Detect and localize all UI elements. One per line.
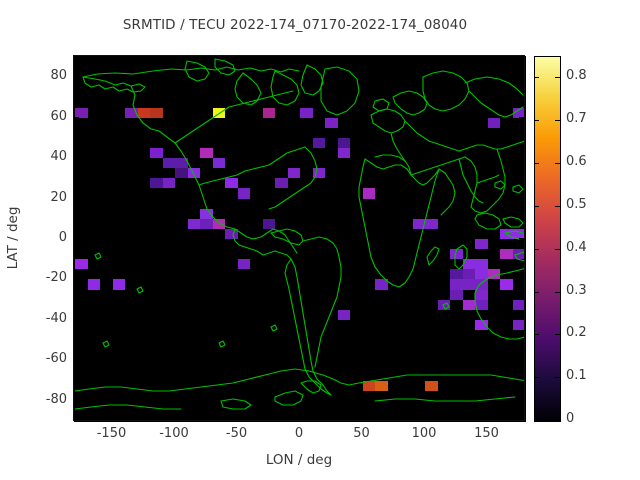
x-tick-label: 100 (394, 426, 454, 441)
colorbar-tick-mark (534, 120, 539, 121)
y-tick-mark-right (519, 117, 524, 118)
colorbar-tick-mark-right (555, 334, 560, 335)
colorbar-tick-mark (534, 334, 539, 335)
x-tick-mark (424, 415, 425, 420)
map-plot-area[interactable] (74, 56, 526, 422)
x-tick-mark-top (424, 56, 425, 61)
x-tick-mark (174, 415, 175, 420)
colorbar-tick-mark (534, 249, 539, 250)
x-tick-label: -50 (207, 426, 267, 441)
x-tick-label: -100 (144, 426, 204, 441)
page-title: SRMTID / TECU 2022-174_07170-2022-174_08… (0, 17, 590, 33)
y-tick-mark (74, 238, 79, 239)
y-tick-mark (74, 76, 79, 77)
x-tick-mark (112, 415, 113, 420)
y-tick-mark-right (519, 238, 524, 239)
y-tick-label: -40 (12, 311, 67, 326)
y-tick-label: -80 (12, 392, 67, 407)
y-tick-mark-right (519, 198, 524, 199)
x-tick-mark-top (362, 56, 363, 61)
colorbar-tick-mark (534, 206, 539, 207)
colorbar-tick-mark-right (555, 420, 560, 421)
y-tick-label: 80 (12, 68, 67, 83)
y-tick-mark-right (519, 319, 524, 320)
y-tick-mark-right (519, 400, 524, 401)
y-tick-mark-right (519, 359, 524, 360)
coastline-overlay (75, 57, 525, 421)
colorbar-gradient (535, 57, 560, 421)
colorbar-tick-mark-right (555, 163, 560, 164)
colorbar-tick-mark (534, 292, 539, 293)
colorbar-tick-mark-right (555, 77, 560, 78)
y-tick-label: -60 (12, 351, 67, 366)
y-tick-mark-right (519, 76, 524, 77)
x-tick-label: 0 (269, 426, 329, 441)
y-tick-mark (74, 359, 79, 360)
colorbar-tick-mark-right (555, 206, 560, 207)
colorbar-tick-mark (534, 77, 539, 78)
y-tick-mark (74, 198, 79, 199)
y-tick-mark-right (519, 278, 524, 279)
y-tick-mark-right (519, 157, 524, 158)
colorbar-tick-mark-right (555, 249, 560, 250)
colorbar-tick-mark-right (555, 120, 560, 121)
colorbar-tick-label: 0.3 (566, 283, 587, 298)
colorbar-tick-mark-right (555, 292, 560, 293)
y-tick-mark (74, 319, 79, 320)
y-tick-mark (74, 400, 79, 401)
x-tick-mark-top (174, 56, 175, 61)
colorbar-tick-label: 0 (566, 411, 574, 426)
x-tick-mark-top (237, 56, 238, 61)
colorbar-tick-label: 0.5 (566, 197, 587, 212)
colorbar-tick-label: 0.6 (566, 154, 587, 169)
colorbar-tick-mark-right (555, 377, 560, 378)
y-tick-label: 40 (12, 149, 67, 164)
x-axis-label: LON / deg (74, 452, 524, 468)
x-tick-label: 50 (332, 426, 392, 441)
x-tick-label: -150 (82, 426, 142, 441)
plot-figure: SRMTID / TECU 2022-174_07170-2022-174_08… (0, 0, 640, 480)
colorbar-tick-label: 0.1 (566, 368, 587, 383)
colorbar-tick-mark (534, 163, 539, 164)
y-tick-mark (74, 278, 79, 279)
y-axis-label: LAT / deg (5, 178, 21, 298)
colorbar-tick-label: 0.8 (566, 68, 587, 83)
x-tick-mark-top (112, 56, 113, 61)
colorbar-tick-mark (534, 377, 539, 378)
x-tick-mark (237, 415, 238, 420)
x-tick-label: 150 (457, 426, 517, 441)
colorbar[interactable] (534, 56, 561, 422)
y-tick-mark (74, 157, 79, 158)
y-tick-label: 60 (12, 109, 67, 124)
colorbar-tick-mark (534, 420, 539, 421)
x-tick-mark (487, 415, 488, 420)
x-tick-mark (299, 415, 300, 420)
x-tick-mark-top (299, 56, 300, 61)
colorbar-tick-label: 0.4 (566, 240, 587, 255)
x-tick-mark-top (487, 56, 488, 61)
colorbar-tick-label: 0.7 (566, 111, 587, 126)
colorbar-tick-label: 0.2 (566, 325, 587, 340)
x-tick-mark (362, 415, 363, 420)
y-tick-mark (74, 117, 79, 118)
